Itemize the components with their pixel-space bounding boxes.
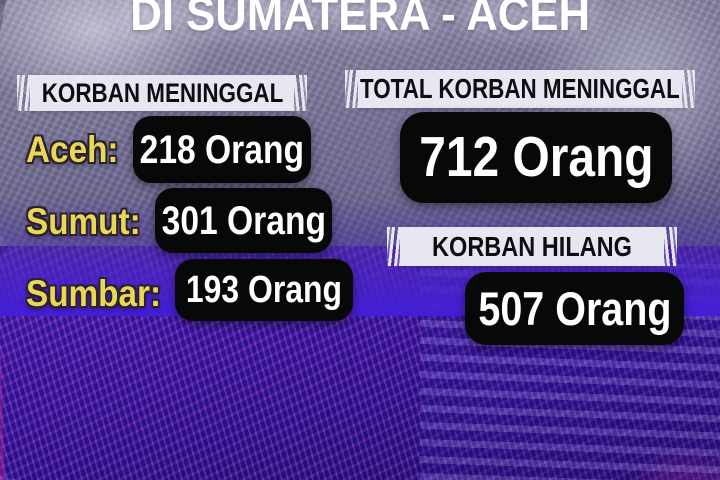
heading-band-total-korban-meninggal: TOTAL KORBAN MENINGGAL	[358, 70, 682, 108]
poster-title-text: DI SUMATERA - ACEH	[130, 0, 590, 42]
heading-label-total-korban-meninggal: TOTAL KORBAN MENINGGAL	[360, 75, 680, 103]
heading-band-korban-meninggal: KORBAN MENINGGAL	[30, 75, 294, 111]
row-label-sumbar: Sumbar:	[26, 275, 161, 312]
value-pill-sumut: 301 Orang	[155, 188, 332, 253]
heading-band-korban-hilang: KORBAN HILANG	[400, 227, 664, 266]
value-pill-total-korban-meninggal: 712 Orang	[400, 112, 672, 203]
value-text-total-korban-meninggal: 712 Orang	[419, 129, 653, 186]
row-label-sumut: Sumut:	[26, 203, 141, 240]
infographic-poster: DI SUMATERA - ACEH KORBAN MENINGGAL TOTA…	[0, 0, 720, 480]
value-text-sumbar: 193 Orang	[186, 271, 342, 309]
poster-title: DI SUMATERA - ACEH	[0, 0, 720, 42]
value-pill-sumbar: 193 Orang	[175, 259, 353, 321]
value-text-korban-hilang: 507 Orang	[478, 285, 671, 332]
row-label-aceh: Aceh:	[26, 131, 119, 168]
heading-label-korban-hilang: KORBAN HILANG	[432, 233, 632, 261]
value-pill-aceh: 218 Orang	[133, 116, 311, 183]
value-text-aceh: 218 Orang	[140, 130, 304, 170]
heading-label-korban-meninggal: KORBAN MENINGGAL	[41, 80, 283, 107]
value-text-sumut: 301 Orang	[161, 201, 325, 241]
value-pill-korban-hilang: 507 Orang	[465, 272, 684, 345]
